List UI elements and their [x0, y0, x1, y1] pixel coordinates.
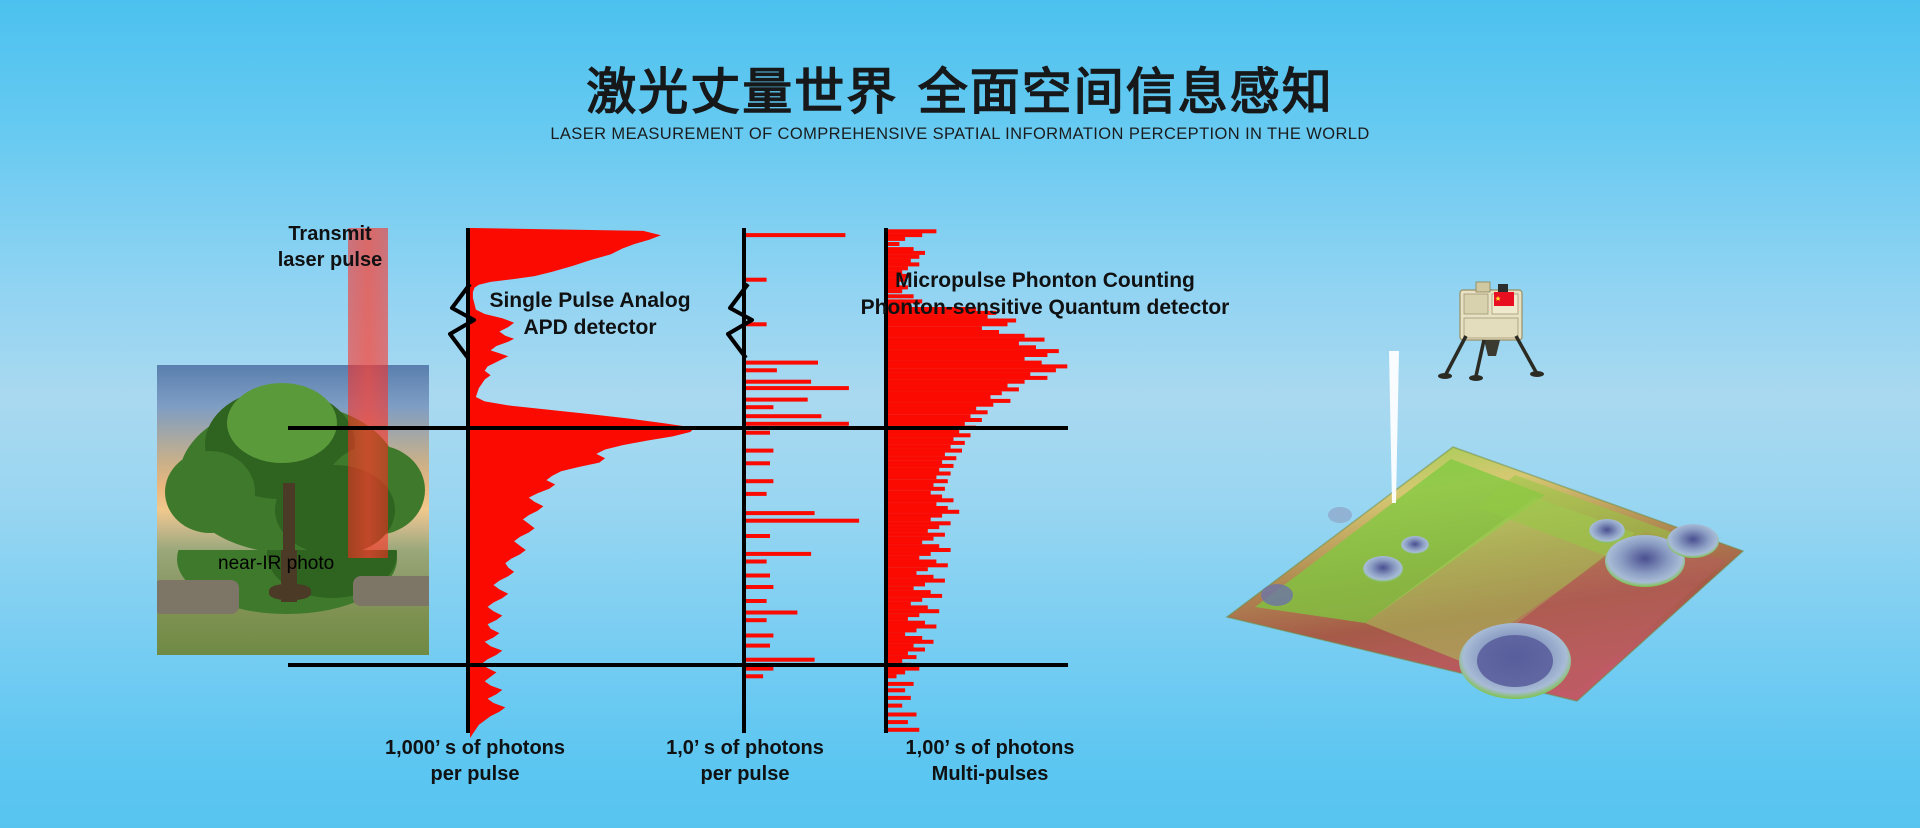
panel3-caption: 1,00’ s of photons Multi-pulses — [880, 735, 1100, 787]
lunar-dem-terrain — [1215, 355, 1755, 715]
panel2-caption: 1,0’ s of photons per pulse — [640, 735, 850, 787]
page-subtitle: LASER MEASUREMENT OF COMPREHENSIVE SPATI… — [0, 125, 1920, 144]
panel1-caption: 1,000’ s of photons per pulse — [360, 735, 590, 787]
near-ir-photo-caption: near-IR photo — [218, 553, 438, 575]
lunar-lander — [1432, 278, 1552, 388]
page-title: 激光丈量世界 全面空间信息感知 — [0, 52, 1920, 124]
panel1-detector-label: Single Pulse Analog APD detector — [430, 288, 750, 342]
poster-canvas: 激光丈量世界 全面空间信息感知 LASER MEASUREMENT OF COM… — [0, 0, 1920, 828]
transmit-laser-beam — [348, 228, 388, 558]
panel3-detector-label: Micropulse Phonton Counting Phonton-sens… — [830, 268, 1260, 322]
ground-reference-line — [288, 663, 1068, 667]
transmit-laser-pulse-label: Transmit laser pulse — [230, 222, 430, 273]
near-ir-photo — [157, 365, 429, 550]
canopy-top-reference-line — [288, 426, 1068, 430]
panel2-axis-break-icon — [718, 282, 764, 360]
